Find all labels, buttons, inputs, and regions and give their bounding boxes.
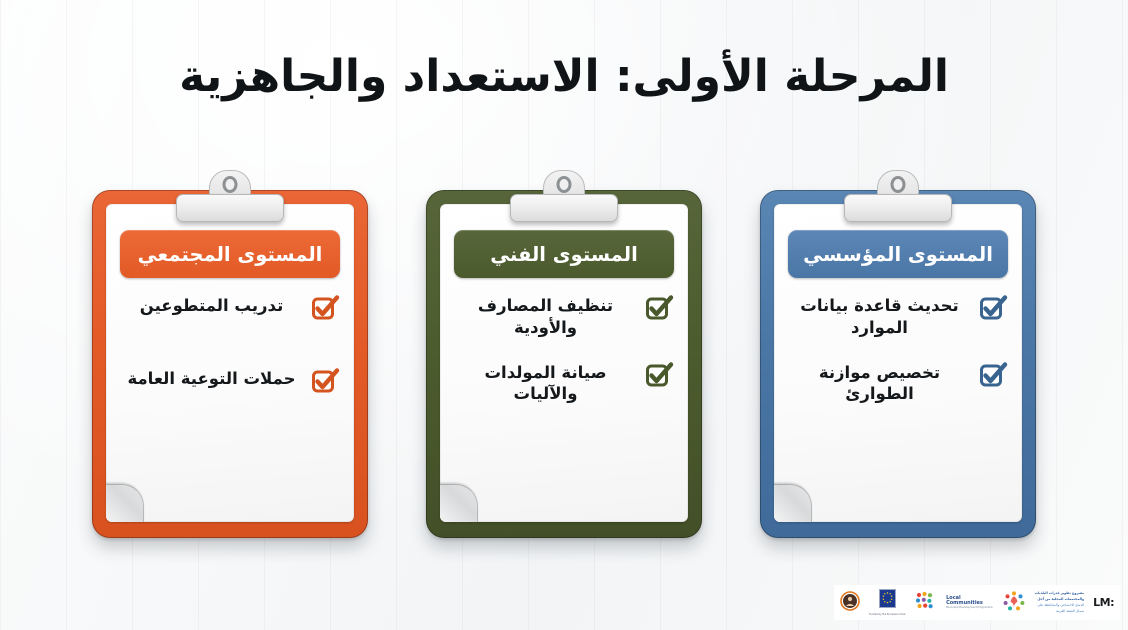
checkbox-checked-icon bbox=[980, 295, 1008, 321]
checklist-institutional: تحديث قاعدة بيانات الموارد تخصيص موازنة … bbox=[788, 294, 1008, 405]
local-communities-label: Local Communities Municipal Development … bbox=[946, 596, 993, 610]
checkbox-checked-icon bbox=[312, 295, 340, 321]
clipboard-clip-icon bbox=[510, 170, 618, 222]
page-curl-corner bbox=[440, 484, 478, 522]
list-item-label: صيانة المولدات والآليات bbox=[454, 361, 637, 406]
checklist-community: تدريب المتطوعين حملات التوعية العامة bbox=[120, 294, 340, 394]
clipboard-clip-icon bbox=[844, 170, 952, 222]
clipboard-backing: المستوى الفني تنظيف المصارف والأودية bbox=[426, 190, 702, 538]
board-header-technical: المستوى الفني bbox=[454, 230, 674, 278]
clip-bar bbox=[176, 194, 284, 222]
list-item-label: حملات التوعية العامة bbox=[120, 367, 303, 390]
checkbox-checked-icon bbox=[980, 362, 1008, 388]
paper-sheet: المستوى المؤسسي تحديث قاعدة بيانات الموا… bbox=[774, 204, 1022, 522]
clip-hole bbox=[223, 176, 238, 193]
paper-sheet: المستوى المجتمعي تدريب المتطوعين bbox=[106, 204, 354, 522]
project-title-line1: مشروع تطوير قدرات البلديات bbox=[1035, 591, 1085, 596]
local-communities-dots-icon bbox=[915, 591, 937, 614]
paper-sheet: المستوى الفني تنظيف المصارف والأودية bbox=[440, 204, 688, 522]
clipboard-card-technical[interactable]: المستوى الفني تنظيف المصارف والأودية bbox=[426, 190, 702, 538]
checklist-technical: تنظيف المصارف والأودية صيانة المولدات وا… bbox=[454, 294, 674, 405]
logo-band: Funded by the European Union bbox=[834, 585, 1120, 620]
local-communities-bottom: Communities bbox=[946, 601, 993, 606]
list-item[interactable]: تدريب المتطوعين bbox=[120, 294, 340, 321]
list-item-label: تخصيص موازنة الطوارئ bbox=[788, 361, 971, 406]
eu-caption: Funded by the European Union bbox=[869, 613, 906, 616]
page-curl-corner bbox=[106, 484, 144, 522]
footer: Funded by the European Union bbox=[0, 576, 1128, 622]
clip-hole bbox=[891, 176, 906, 193]
list-item[interactable]: تحديث قاعدة بيانات الموارد bbox=[788, 294, 1008, 339]
partner-seal-logo-icon bbox=[840, 591, 860, 615]
checkbox-checked-icon bbox=[646, 362, 674, 388]
clip-bar bbox=[844, 194, 952, 222]
clipboard-card-community[interactable]: المستوى المجتمعي تدريب المتطوعين bbox=[92, 190, 368, 538]
page-curl-corner bbox=[774, 484, 812, 522]
board-header-community: المستوى المجتمعي bbox=[120, 230, 340, 278]
checkbox-checked-icon bbox=[312, 368, 340, 394]
list-item-label: تدريب المتطوعين bbox=[120, 294, 303, 317]
eu-emblem-block: Funded by the European Union bbox=[869, 589, 906, 616]
list-item[interactable]: حملات التوعية العامة bbox=[120, 367, 340, 394]
board-header-institutional: المستوى المؤسسي bbox=[788, 230, 1008, 278]
project-title-line4: شمال الضفة الغربية bbox=[1035, 609, 1085, 614]
list-item[interactable]: تخصيص موازنة الطوارئ bbox=[788, 361, 1008, 406]
clipboard-backing: المستوى المؤسسي تحديث قاعدة بيانات الموا… bbox=[760, 190, 1036, 538]
list-item-label: تنظيف المصارف والأودية bbox=[454, 294, 637, 339]
project-title-line2: والمجتمعات المحلية من أجل bbox=[1035, 597, 1085, 602]
clip-hole bbox=[557, 176, 572, 193]
project-people-icon bbox=[1002, 590, 1026, 616]
clip-bar bbox=[510, 194, 618, 222]
list-item-label: تحديث قاعدة بيانات الموارد bbox=[788, 294, 971, 339]
local-communities-sub: Municipal Development Programme bbox=[946, 607, 993, 610]
eu-emblem-icon bbox=[879, 589, 896, 612]
clipboard-row: المستوى المؤسسي تحديث قاعدة بيانات الموا… bbox=[0, 190, 1128, 538]
clipboard-card-institutional[interactable]: المستوى المؤسسي تحديث قاعدة بيانات الموا… bbox=[760, 190, 1036, 538]
list-item[interactable]: تنظيف المصارف والأودية bbox=[454, 294, 674, 339]
clipboard-clip-icon bbox=[176, 170, 284, 222]
checkbox-checked-icon bbox=[646, 295, 674, 321]
project-title-block: مشروع تطوير قدرات البلديات والمجتمعات ال… bbox=[1035, 591, 1085, 614]
list-item[interactable]: صيانة المولدات والآليات bbox=[454, 361, 674, 406]
clipboard-backing: المستوى المجتمعي تدريب المتطوعين bbox=[92, 190, 368, 538]
project-title-line3: الدماج الاجتماعي والمحافظة على bbox=[1035, 603, 1085, 608]
corner-mark: LM: bbox=[1093, 596, 1114, 609]
slide-canvas: المرحلة الأولى: الاستعداد والجاهزية المس… bbox=[0, 0, 1128, 630]
page-title: المرحلة الأولى: الاستعداد والجاهزية bbox=[0, 52, 1128, 103]
